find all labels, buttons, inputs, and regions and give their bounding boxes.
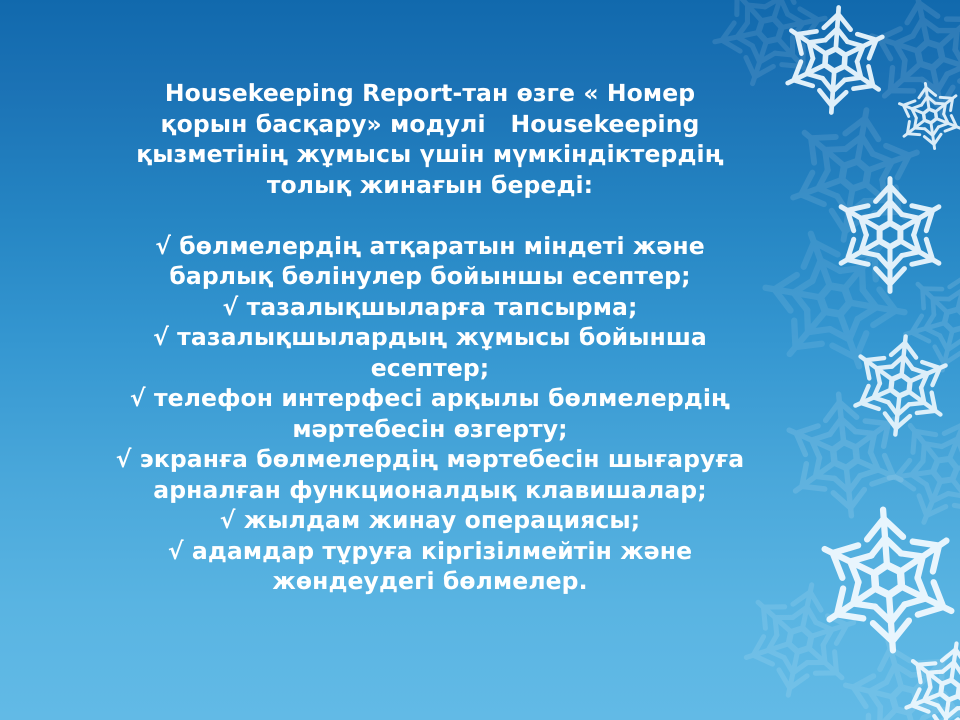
snowflake-right-faint-e-icon [888,253,960,386]
snowflake-right-lower-bright-icon [842,327,957,442]
checklist-line: √ адамдар тұруға кіргізілмейтін және [60,536,800,567]
snowflake-right-mid-bright-icon [830,175,950,295]
snowflake-bottom-faint-i-icon [825,620,960,720]
intro-line: қорын басқару» модулі Housekeeping [60,109,800,140]
intro-line: Housekeeping Report-тан өзге « Номер [60,78,800,109]
slide-text-block: Housekeeping Report-тан өзге « Номерқоры… [60,78,800,597]
checklist-line: жөндеудегі бөлмелер. [60,566,800,597]
feature-checklist: √ бөлмелердің атқаратын міндеті жәнебарл… [60,231,800,597]
slide-canvas: Housekeeping Report-тан өзге « Номерқоры… [0,0,960,720]
snowflake-top-right-faint-b-icon [853,0,960,132]
intro-line: қызметінің жұмысы үшін мүмкіндіктердің [60,139,800,170]
intro-paragraph: Housekeeping Report-тан өзге « Номерқоры… [60,78,800,200]
checklist-line: √ экранға бөлмелердің мәртебесін шығаруғ… [60,444,800,475]
checklist-line: √ телефон интерфесі арқылы бөлмелердің [60,383,800,414]
checklist-line: есептер; [60,353,800,384]
snowflake-right-faint-g-icon [867,392,960,548]
checklist-line: арналған функционалдық клавишалар; [60,475,800,506]
snowflake-bottom-right-large-icon [808,500,960,660]
paragraph-spacer [60,200,800,231]
snowflake-right-small-bright-icon [890,76,960,155]
snowflake-bottom-right-small-icon [894,634,960,720]
checklist-line: √ тазалықшылардың жұмысы бойынша [60,322,800,353]
checklist-line: √ тазалықшыларға тапсырма; [60,292,800,323]
checklist-line: √ бөлмелердің атқаратын міндеті және [60,231,800,262]
checklist-line: √ жылдам жинау операциясы; [60,505,800,536]
checklist-line: барлық бөлінулер бойыншы есептер; [60,261,800,292]
checklist-line: мәртебесін өзгерту; [60,414,800,445]
intro-line: толық жинағын береді: [60,170,800,201]
